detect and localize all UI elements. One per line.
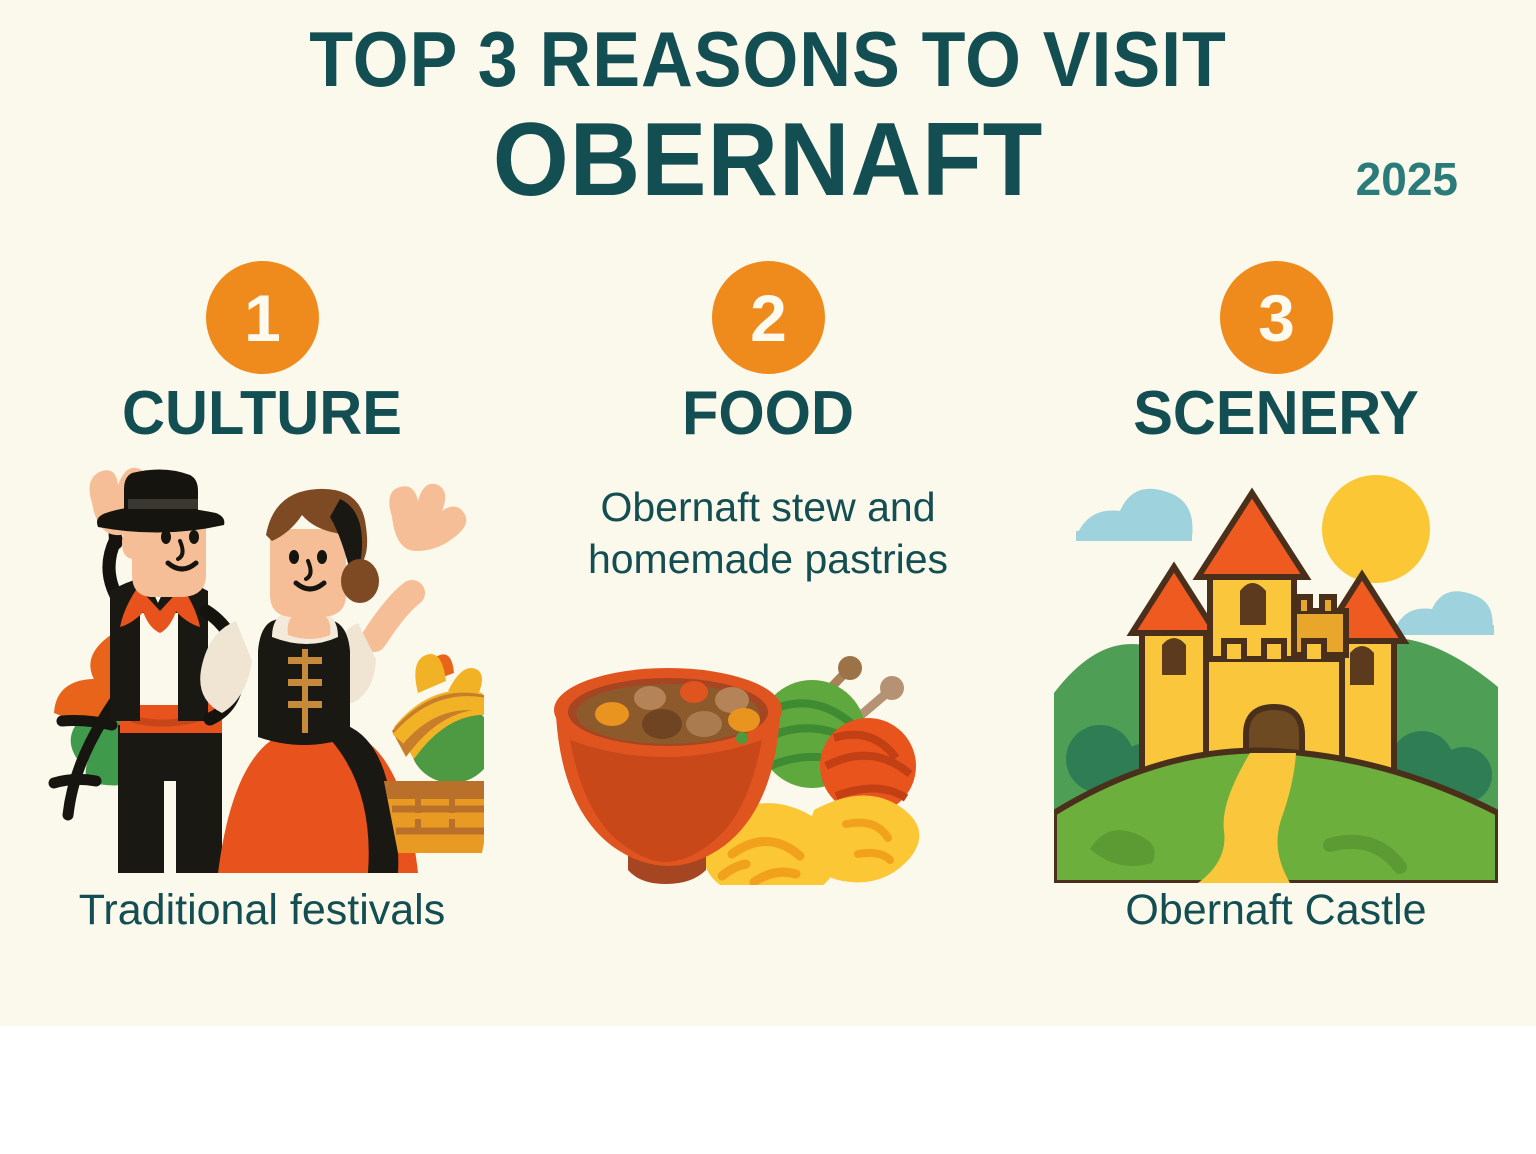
page-title-line1: TOP 3 REASONS TO VISIT — [61, 20, 1474, 98]
sun-icon — [1322, 475, 1430, 583]
reason-column-culture: 1 CULTURE — [22, 255, 502, 1025]
year-badge: 2025 — [1356, 152, 1458, 206]
poster-header: TOP 3 REASONS TO VISIT OBERNAFT 2025 — [0, 0, 1536, 250]
page-title-line2: OBERNAFT — [46, 108, 1490, 212]
reason-column-food: 2 FOOD Obernaft stew and homemade pastri… — [528, 255, 1008, 1025]
reason-number-badge-2: 2 — [712, 261, 825, 374]
reason-caption-food: Obernaft stew and homemade pastries — [538, 481, 998, 586]
reason-heading-food: FOOD — [499, 383, 1037, 445]
reason-heading-culture: CULTURE — [0, 383, 531, 445]
reason-caption-scenery: Obernaft Castle — [1006, 887, 1536, 934]
folk-couple-illustration — [40, 463, 484, 873]
reason-heading-scenery: SCENERY — [1007, 383, 1536, 445]
infographic-poster: TOP 3 REASONS TO VISIT OBERNAFT 2025 1 C… — [0, 0, 1536, 1026]
reason-number-badge-1: 1 — [206, 261, 319, 374]
reason-number-badge-3: 3 — [1220, 261, 1333, 374]
reason-column-scenery: 3 SCENERY — [1036, 255, 1516, 1025]
harvest-basket-decoration — [384, 654, 484, 853]
reasons-columns: 1 CULTURE — [0, 255, 1536, 1025]
castle-on-hill-illustration — [1054, 463, 1498, 883]
stew-bowl-and-pastries-illustration — [546, 600, 990, 885]
reason-caption-culture: Traditional festivals — [0, 887, 532, 934]
